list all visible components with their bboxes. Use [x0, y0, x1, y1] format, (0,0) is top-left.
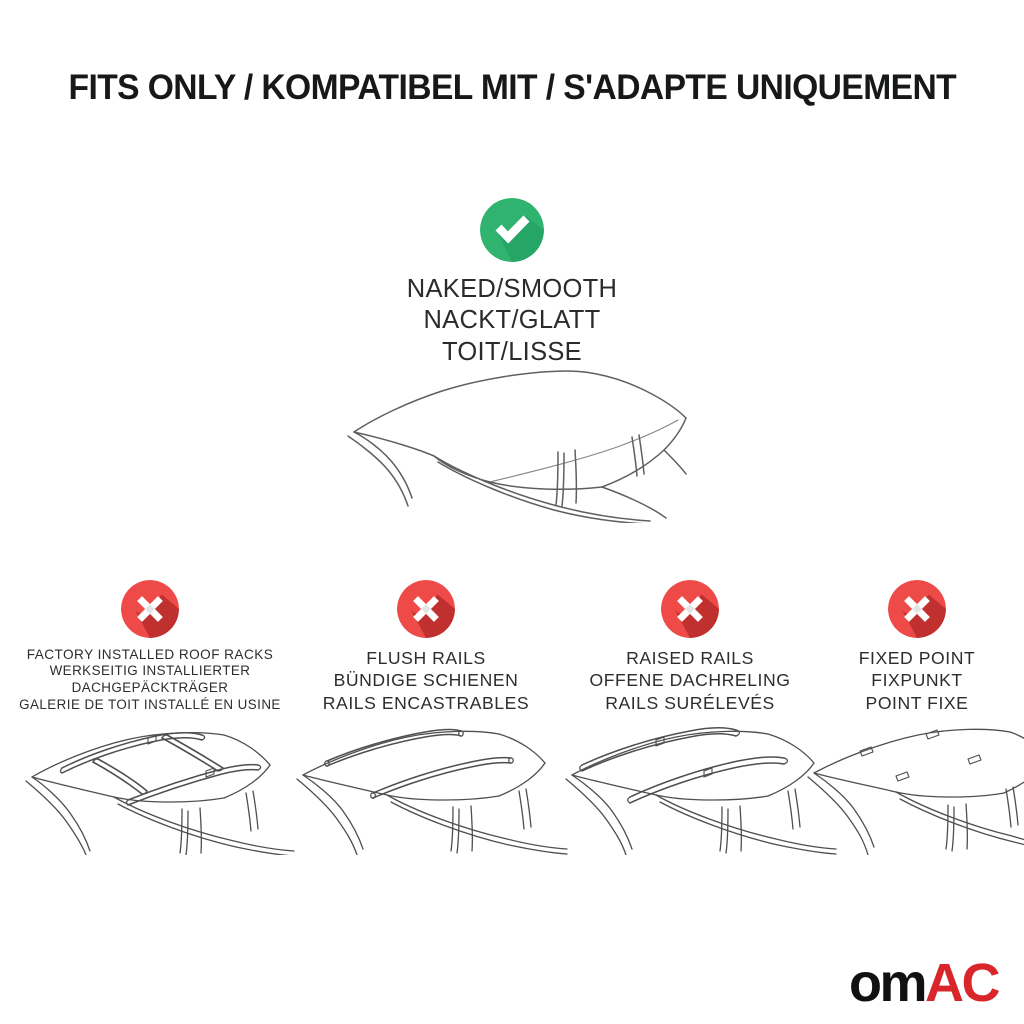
incompatible-item-raised-rails: RAISED RAILS OFFENE DACHRELING RAILS SUR… [552, 580, 828, 714]
label-factory-de-2: DACHGEPÄCKTRÄGER [0, 680, 300, 697]
compatible-label-en: NAKED/SMOOTH [0, 274, 1024, 305]
logo-text-om: om [849, 953, 925, 1013]
label-factory-de-1: WERKSEITIG INSTALLIERTER [0, 663, 300, 680]
car-roof-factory-racks-illustration [10, 705, 295, 855]
label-fixed-de: FIXPUNKT [810, 669, 1024, 691]
label-factory-en: FACTORY INSTALLED ROOF RACKS [0, 646, 300, 663]
incompatible-labels-raised: RAISED RAILS OFFENE DACHRELING RAILS SUR… [552, 647, 828, 714]
x-circle-icon [888, 580, 946, 638]
infographic-page: FITS ONLY / KOMPATIBEL MIT / S'ADAPTE UN… [0, 0, 1024, 1024]
label-raised-de: OFFENE DACHRELING [552, 669, 828, 691]
compatible-item-naked-smooth: NAKED/SMOOTH NACKT/GLATT TOIT/LISSE [0, 198, 1024, 368]
x-circle-icon [397, 580, 455, 638]
incompatible-item-flush-rails: FLUSH RAILS BÜNDIGE SCHIENEN RAILS ENCAS… [288, 580, 564, 714]
car-roof-flush-rails-illustration [285, 705, 570, 855]
incompatible-item-factory-installed-roof-racks: FACTORY INSTALLED ROOF RACKS WERKSEITIG … [0, 580, 300, 714]
label-flush-en: FLUSH RAILS [288, 647, 564, 669]
x-circle-icon [661, 580, 719, 638]
page-title-container: FITS ONLY / KOMPATIBEL MIT / S'ADAPTE UN… [0, 68, 1024, 108]
incompatible-labels-flush: FLUSH RAILS BÜNDIGE SCHIENEN RAILS ENCAS… [288, 647, 564, 714]
x-circle-icon [121, 580, 179, 638]
incompatible-labels-factory: FACTORY INSTALLED ROOF RACKS WERKSEITIG … [0, 646, 300, 714]
incompatible-item-fixed-point: FIXED POINT FIXPUNKT POINT FIXE [810, 580, 1024, 714]
car-roof-raised-rails-illustration [552, 705, 837, 855]
page-title: FITS ONLY / KOMPATIBEL MIT / S'ADAPTE UN… [68, 68, 956, 108]
compatible-label-de: NACKT/GLATT [0, 305, 1024, 336]
label-flush-de: BÜNDIGE SCHIENEN [288, 669, 564, 691]
incompatible-labels-fixed: FIXED POINT FIXPUNKT POINT FIXE [810, 647, 1024, 714]
omac-logo: omAC [849, 956, 998, 1010]
check-circle-icon [480, 198, 544, 262]
label-fixed-en: FIXED POINT [810, 647, 1024, 669]
car-roof-fixed-point-illustration [800, 705, 1024, 855]
car-roof-naked-smooth-illustration [330, 358, 710, 523]
label-raised-en: RAISED RAILS [552, 647, 828, 669]
compatible-labels: NAKED/SMOOTH NACKT/GLATT TOIT/LISSE [0, 274, 1024, 368]
logo-text-ac: AC [925, 953, 998, 1013]
